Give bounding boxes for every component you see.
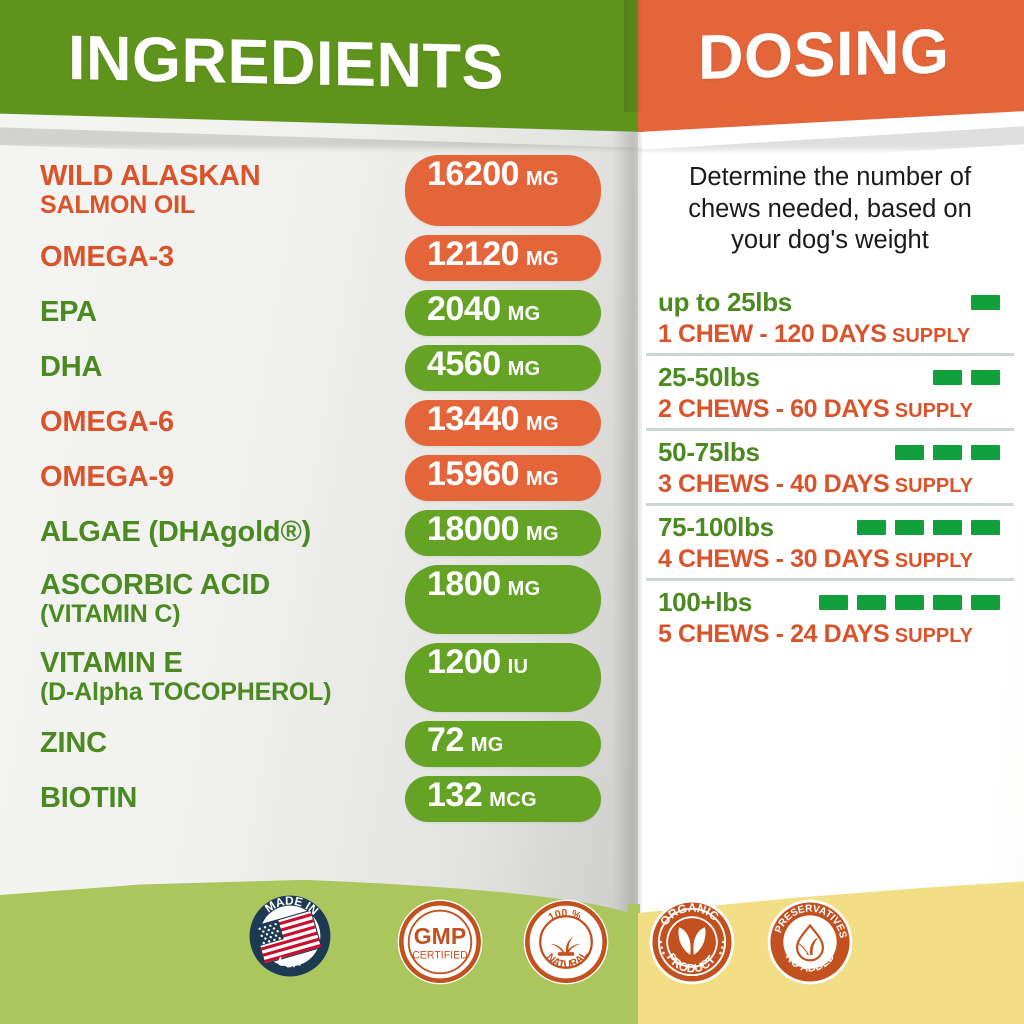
ingredient-amount-value: 18000 (427, 510, 519, 549)
ingredient-amount-pill: 13440MG (405, 400, 601, 446)
dosing-row-top: up to 25lbs (658, 287, 1006, 318)
made-in-usa-badge-icon: MADE IN USA (244, 890, 336, 982)
chew-mark (857, 595, 886, 610)
ingredient-amount-value: 4560 (427, 345, 501, 384)
ingredient-name: OMEGA-6 (0, 407, 370, 438)
ingredient-name: BIOTIN (0, 783, 370, 814)
chew-count-indicator (819, 595, 1006, 610)
chew-mark (819, 595, 848, 610)
dosing-panel: Determine the number of chews needed, ba… (646, 162, 1014, 653)
ingredient-name: WILD ALASKANSALMON OIL (0, 161, 370, 219)
dosing-row: up to 25lbs1 CHEW - 120 DAYS SUPPLY (646, 281, 1014, 353)
ingredient-amount-pill: 72MG (405, 721, 601, 767)
ingredient-amount-unit: MG (526, 168, 559, 191)
ingredient-amount-pill: 132MCG (405, 776, 601, 822)
ingredient-name-line2: (D-Alpha TOCOPHEROL) (40, 679, 370, 706)
ingredient-amount-value: 12120 (427, 235, 519, 274)
ingredient-name: OMEGA-3 (0, 242, 370, 273)
ingredient-amount-value: 15960 (427, 455, 519, 494)
ingredient-row: ALGAE (DHAgold®)18000MG (0, 505, 620, 560)
ingredient-amount-unit: MG (508, 358, 541, 381)
chew-count-indicator (895, 445, 1006, 460)
dosing-row: 100+lbs5 CHEWS - 24 DAYS SUPPLY (646, 578, 1014, 653)
dosing-row: 75-100lbs4 CHEWS - 30 DAYS SUPPLY (646, 503, 1014, 578)
dosing-supply-text: 5 CHEWS - 24 DAYS SUPPLY (658, 620, 1006, 649)
no-added-preservatives-badge-icon: PRESERVATIVES NO ADDED (764, 896, 856, 988)
ingredient-amount-pill: 2040MG (405, 290, 601, 336)
ingredient-name: OMEGA-9 (0, 462, 370, 493)
ingredient-amount-unit: MG (526, 248, 559, 271)
dosing-instructions: Determine the number of chews needed, ba… (646, 162, 1014, 257)
ingredient-amount-pill: 1800MG (405, 565, 601, 634)
organic-product-badge-icon: ORGANIC PRODUCT (646, 896, 738, 988)
dosing-supply-suffix: SUPPLY (889, 625, 973, 647)
dog-weight-range: 25-50lbs (658, 362, 760, 393)
ingredient-row: OMEGA-613440MG (0, 395, 620, 450)
dosing-row-top: 50-75lbs (658, 437, 1006, 468)
ingredient-amount-value: 1800 (427, 565, 501, 604)
ingredient-amount-value: 132 (427, 776, 482, 815)
ingredient-name-line2: (VITAMIN C) (40, 601, 370, 628)
banner-fold-shadow (624, 0, 642, 112)
dosing-supply-text: 2 CHEWS - 60 DAYS SUPPLY (658, 395, 1006, 424)
chew-mark (971, 445, 1000, 460)
dog-weight-range: 75-100lbs (658, 512, 774, 543)
ingredient-amount-value: 72 (427, 721, 464, 760)
chew-mark (933, 445, 962, 460)
ingredient-row: VITAMIN E(D-Alpha TOCOPHEROL)1200IU (0, 638, 620, 716)
ingredient-amount-unit: MG (526, 523, 559, 546)
dosing-row-top: 100+lbs (658, 587, 1006, 618)
chew-mark (895, 595, 924, 610)
ingredient-amount-pill: 18000MG (405, 510, 601, 556)
100-percent-natural-badge-icon: 100 % NATURAL (520, 896, 612, 988)
ingredient-amount-value: 16200 (427, 155, 519, 194)
chew-count-indicator (857, 520, 1006, 535)
ingredient-amount-unit: MG (471, 734, 504, 757)
dosing-supply-suffix: SUPPLY (889, 550, 973, 572)
dog-weight-range: up to 25lbs (658, 287, 792, 318)
ingredient-amount-unit: MG (526, 413, 559, 436)
dosing-supply-suffix: SUPPLY (889, 475, 973, 497)
ingredient-name: ASCORBIC ACID(VITAMIN C) (0, 570, 370, 628)
chew-mark (933, 370, 962, 385)
ingredient-amount-value: 13440 (427, 400, 519, 439)
dosing-row-top: 25-50lbs (658, 362, 1006, 393)
ingredient-row: EPA2040MG (0, 285, 620, 340)
dosing-supply-suffix: SUPPLY (889, 400, 973, 422)
ingredient-amount-unit: MG (526, 468, 559, 491)
ingredient-amount-pill: 15960MG (405, 455, 601, 501)
dosing-supply-text: 1 CHEW - 120 DAYS SUPPLY (658, 320, 1006, 349)
chew-mark (971, 520, 1000, 535)
dosing-supply-text: 3 CHEWS - 40 DAYS SUPPLY (658, 470, 1006, 499)
ingredient-name: VITAMIN E(D-Alpha TOCOPHEROL) (0, 648, 370, 706)
chew-count-indicator (971, 295, 1006, 310)
chew-mark (933, 595, 962, 610)
ingredients-list: WILD ALASKANSALMON OIL16200MGOMEGA-31212… (0, 150, 620, 826)
infographic-poster: INGREDIENTS DOSING WILD ALASKANSALMON OI… (0, 0, 1024, 1024)
dosing-supply-suffix: SUPPLY (886, 325, 970, 347)
ingredient-name-line2: SALMON OIL (40, 192, 370, 219)
ingredient-amount-pill: 1200IU (405, 643, 601, 712)
chew-mark (895, 520, 924, 535)
ingredient-amount-pill: 12120MG (405, 235, 601, 281)
dosing-table: up to 25lbs1 CHEW - 120 DAYS SUPPLY25-50… (646, 281, 1014, 653)
ingredient-name: DHA (0, 352, 370, 383)
chew-mark (857, 520, 886, 535)
chew-mark (971, 370, 1000, 385)
ingredient-amount-pill: 16200MG (405, 155, 601, 226)
dog-weight-range: 100+lbs (658, 587, 752, 618)
ingredient-name: ALGAE (DHAgold®) (0, 517, 370, 548)
ingredient-row: DHA4560MG (0, 340, 620, 395)
ingredient-amount-unit: IU (508, 656, 529, 679)
ingredient-name: ZINC (0, 728, 370, 759)
svg-text:GMP: GMP (414, 923, 466, 949)
chew-mark (895, 445, 924, 460)
ingredient-row: ASCORBIC ACID(VITAMIN C)1800MG (0, 560, 620, 638)
ingredient-row: BIOTIN132MCG (0, 771, 620, 826)
dosing-row-top: 75-100lbs (658, 512, 1006, 543)
chew-mark (971, 595, 1000, 610)
ingredient-row: OMEGA-312120MG (0, 230, 620, 285)
dosing-supply-text: 4 CHEWS - 30 DAYS SUPPLY (658, 545, 1006, 574)
ingredient-amount-value: 2040 (427, 290, 501, 329)
page-title-ingredients: INGREDIENTS (68, 22, 504, 104)
ingredient-amount-unit: MG (508, 578, 541, 601)
ingredient-amount-unit: MG (508, 303, 541, 326)
dog-weight-range: 50-75lbs (658, 437, 760, 468)
ingredient-row: OMEGA-915960MG (0, 450, 620, 505)
chew-mark (933, 520, 962, 535)
ingredient-name: EPA (0, 297, 370, 328)
svg-text:USA: USA (276, 954, 303, 971)
trust-badges: MADE IN USA GMP CERTIFIED (0, 888, 1024, 998)
chew-mark (971, 295, 1000, 310)
dosing-row: 50-75lbs3 CHEWS - 40 DAYS SUPPLY (646, 428, 1014, 503)
ingredient-row: ZINC72MG (0, 716, 620, 771)
ingredient-row: WILD ALASKANSALMON OIL16200MG (0, 150, 620, 230)
ingredient-amount-unit: MCG (489, 789, 537, 812)
ingredient-amount-pill: 4560MG (405, 345, 601, 391)
svg-text:CERTIFIED: CERTIFIED (412, 950, 468, 962)
chew-count-indicator (933, 370, 1006, 385)
gmp-certified-badge-icon: GMP CERTIFIED (394, 896, 486, 988)
page-title-dosing: DOSING (698, 15, 950, 94)
ingredient-amount-value: 1200 (427, 643, 501, 682)
dosing-row: 25-50lbs2 CHEWS - 60 DAYS SUPPLY (646, 353, 1014, 428)
